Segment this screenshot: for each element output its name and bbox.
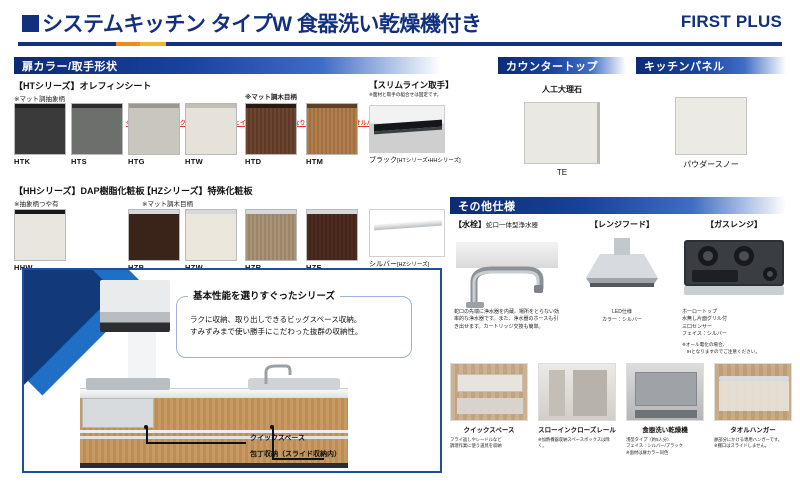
spec-hood-heading: 【レンジフード】 [578,219,666,230]
handle-section-title: 【スリムライン取手】 [369,79,461,91]
swatch-HTS-chip [71,103,123,155]
accent-bar-yellow [140,42,166,46]
brand-logo: FIRST PLUS [681,12,782,32]
drawer-gap-1 [80,430,348,433]
section-bar-door-label: 扉カラー/取手形状 [22,58,118,74]
spec-faucet-title: 【水栓】 [454,220,486,229]
label-knife-storage: 包丁収納（スライド収納内） [250,449,341,459]
section-bar-countertop: カウンタートップ [498,57,626,74]
hood-image [578,234,666,306]
spec-hood: 【レンジフード】 LED仕様 カラー：シルバー [578,219,666,325]
swatch-rail [186,104,236,108]
swatch-HTS[interactable]: HTS [71,103,123,166]
hood-illustration [100,280,170,332]
stove-image [682,234,786,306]
handle-silver: シルバー[HZシリーズ] [369,209,445,269]
countertop-material: 人工大理石 [498,84,626,95]
page-title: システムキッチン タイプW 食器洗い乾燥機付き [42,8,481,38]
spec-faucet-heading: 【水栓】蛇口一体型浄水器 [454,219,562,230]
swatch-HTK-label: HTK [14,157,66,166]
cooktop-illustration [86,378,170,390]
handle-black: 【スリムライン取手】 ※面材と取手の組合せは固定です。 ブラック[HTシリーズ・… [369,79,461,165]
swatch-HZB-chip [128,209,180,261]
section-bar-door: 扉カラー/取手形状 [14,57,441,74]
header-divider [18,42,782,46]
tile-dishwasher-photo [626,363,704,421]
drawer-inner [457,398,523,414]
swatch-HTM-chip [306,103,358,155]
swatch-rail [307,210,357,214]
swatch-rail [307,104,357,108]
swatch-HZF[interactable]: HZF [306,209,358,272]
tile-slow-close-rail-desc: ※加熱機器収納スペースボックスは除く。 [538,437,616,450]
spec-stove: 【ガスレンジ】 ホーロートップ 水無し片面グリル付 三口センサー フェイス：シル… [682,219,786,355]
swatch-HTW[interactable]: HTW [185,103,237,166]
swatch-HTM-label: HTM [306,157,358,166]
countertop-panel: カウンタートップ 人工大理石 TE [498,57,626,177]
rail-left [549,370,565,416]
tile-towel-hanger-desc: 扉部分にかける専用ハンガーです。 ※棚口はスライドしません。 [714,437,792,450]
swatch-HZR-chip [245,209,297,261]
tile-slow-close-rail-photo [538,363,616,421]
swatch-HTS-label: HTS [71,157,123,166]
faucet-svg [456,252,560,312]
handle-black-series: [HTシリーズ・HHシリーズ] [397,158,461,164]
handle-note: ※面材と取手の組合せは固定です。 [369,92,461,98]
section-bar-kitchenpanel-label: キッチンパネル [644,58,725,74]
tile-towel-hanger-name: タオルハンガー [714,424,792,434]
rail-right [573,370,607,416]
section-bar-kitchenpanel: キッチンパネル [636,57,786,74]
swatch-HTG-chip [128,103,180,155]
swatch-HTD-label: HTD [245,157,297,166]
kitchen-panel-label: パウダースノー [636,159,786,170]
spec-hood-body2: カラー：シルバー [578,317,666,324]
door-group-hh-title: 【HHシリーズ】DAP樹脂化粧板 [14,184,145,197]
section-bar-countertop-label: カウンタートップ [506,58,598,74]
swatch-HTM[interactable]: HTM [306,103,358,166]
leader-line-1v [146,427,148,443]
spec-faucet-subtitle: 蛇口一体型浄水器 [486,222,538,229]
hood-svg [578,234,666,300]
other-specs-panel: その他仕様 【水栓】蛇口一体型浄水器 蛇口の先端に浄水器を内蔵。場所をとらない効… [450,197,786,214]
door-group-hz-title-wrap: 【HZシリーズ】特殊化粧板 ※マット調木目柄 [142,184,253,208]
spec-faucet: 【水栓】蛇口一体型浄水器 蛇口の先端に浄水器を内蔵。場所をとらない効率的な浄水器… [454,219,562,331]
handle-silver-color: シルバー [369,261,397,268]
swatch-HTD-chip [245,103,297,155]
door-group-ht-subtitle: ※マット調抽象柄 [14,93,151,103]
label-quick-space: クイックスペース [250,433,305,443]
countertop-label: TE [498,168,626,177]
countertop-swatch[interactable] [524,102,600,164]
handle-black-color: ブラック [369,157,397,164]
swatch-HTW-chip [185,103,237,155]
swatch-rail [246,104,296,108]
tile-quick-space-name: クイックスペース [450,424,528,434]
tile-quick-space[interactable]: クイックスペース フライ返しやレードルなど 調理作業に使う道具を収納 [450,363,528,450]
door-group-hh-title-wrap: 【HHシリーズ】DAP樹脂化粧板 ※抽象柄つや有 [14,184,145,208]
swatch-rail [246,210,296,214]
showcase-faucet-icon [260,362,294,384]
swatch-HZW[interactable]: HZW [185,209,237,272]
callout-title: 基本性能を選りすぐったシリーズ [188,288,340,302]
spec-stove-heading: 【ガスレンジ】 [682,219,786,230]
door-group-ht: 【HTシリーズ】オレフィンシート ※マット調抽象柄 [14,79,151,103]
towel [719,381,789,411]
tile-dishwasher[interactable]: 食器洗い乾燥機 浅型タイプ（約5人分） フェイス：シルバー/ブラック ※面材は扉… [626,363,704,456]
kitchen-panel-swatch[interactable] [675,97,747,155]
swatch-rail [72,104,122,108]
swatch-HTD[interactable]: HTD [245,103,297,166]
callout-body: ラクに収納、取り出しできるビッグスペース収納。 すみずみまで使い勝手にこだわった… [190,314,362,337]
tile-slow-close-rail-name: スローインクローズレール [538,424,616,434]
kitchen-panel-panel: キッチンパネル パウダースノー [636,57,786,170]
dishwasher-face [635,410,697,418]
spec-sheet-page: システムキッチン タイプW 食器洗い乾燥機付き FIRST PLUS 扉カラー/… [0,0,800,487]
tile-quick-space-desc: フライ返しやレードルなど 調理作業に使う道具を収納 [450,437,528,450]
door-group-hz-subtitle: ※マット調木目柄 [142,198,253,208]
square-bullet-icon [22,15,39,32]
handle-black-caption: ブラック[HTシリーズ・HHシリーズ] [369,155,461,165]
swatch-HTK[interactable]: HTK [14,103,66,166]
swatch-HZF-chip [306,209,358,261]
swatch-HTG[interactable]: HTG [128,103,180,166]
page-header: システムキッチン タイプW 食器洗い乾燥機付き FIRST PLUS [0,0,800,48]
door-group-hh-subtitle: ※抽象柄つや有 [14,198,145,208]
swatch-HHW-chip [14,209,66,261]
tile-towel-hanger-photo [714,363,792,421]
spec-faucet-body: 蛇口の先端に浄水器を内蔵。場所をとらない効率的な浄水器です。また、浄水器のホース… [454,309,562,331]
section-bar-other: その他仕様 [450,197,786,214]
handle-silver-image [369,209,445,257]
accent-bar-orange [116,42,140,46]
swatch-HTK-chip [14,103,66,155]
swatch-HTG-label: HTG [128,157,180,166]
swatch-HZW-chip [185,209,237,261]
dishwasher-basket [635,372,697,406]
tile-slow-close-rail[interactable]: スローインクローズレール ※加熱機器収納スペースボックスは除く。 [538,363,616,450]
swatch-rail [129,104,179,108]
stove-svg [682,234,786,300]
drawer-front [457,374,523,392]
door-group-ht-subtitle2: ※マット調木目柄 [245,91,297,101]
showcase-panel: 基本性能を選りすぐったシリーズ ラクに収納、取り出しできるビッグスペース収納。 … [22,268,442,473]
swatch-HZB[interactable]: HZB [128,209,180,272]
handle-black-image [369,105,445,153]
drawer-gap-2 [80,436,348,439]
tile-quick-space-photo [450,363,528,421]
swatch-HHW[interactable]: HHW [14,209,66,272]
spec-stove-note: ※オール電化の場合、 IHとなりますのでご注意ください。 [682,342,786,355]
swatch-HZR[interactable]: HZR [245,209,297,272]
tile-towel-hanger[interactable]: タオルハンガー 扉部分にかける専用ハンガーです。 ※棚口はスライドしません。 [714,363,792,450]
section-bar-other-label: その他仕様 [458,198,516,214]
swatch-rail [15,104,65,108]
faucet-image [454,234,562,306]
tile-dishwasher-desc: 浅型タイプ（約5人分） フェイス：シルバー/ブラック ※面材は扉カラー同色 [626,437,704,456]
oven-illustration [82,398,154,428]
door-color-panel: 扉カラー/取手形状 ※ライン取手ブラックの場合、食洗機フェイス色はブラックとなり… [14,57,441,74]
swatch-rail [129,210,179,214]
spec-hood-body: LED仕様 [578,309,666,316]
kitchen-base [80,463,348,468]
spec-stove-body: ホーロートップ 水無し片面グリル付 三口センサー フェイス：シルバー [682,309,786,338]
leader-line-1h [146,442,246,444]
door-group-ht-title: 【HTシリーズ】オレフィンシート [14,79,151,92]
swatch-rail [186,210,236,214]
swatch-HTW-label: HTW [185,157,237,166]
swatch-rail [15,210,65,214]
tile-dishwasher-name: 食器洗い乾燥機 [626,424,704,434]
door-group-hz-title: 【HZシリーズ】特殊化粧板 [142,184,253,197]
